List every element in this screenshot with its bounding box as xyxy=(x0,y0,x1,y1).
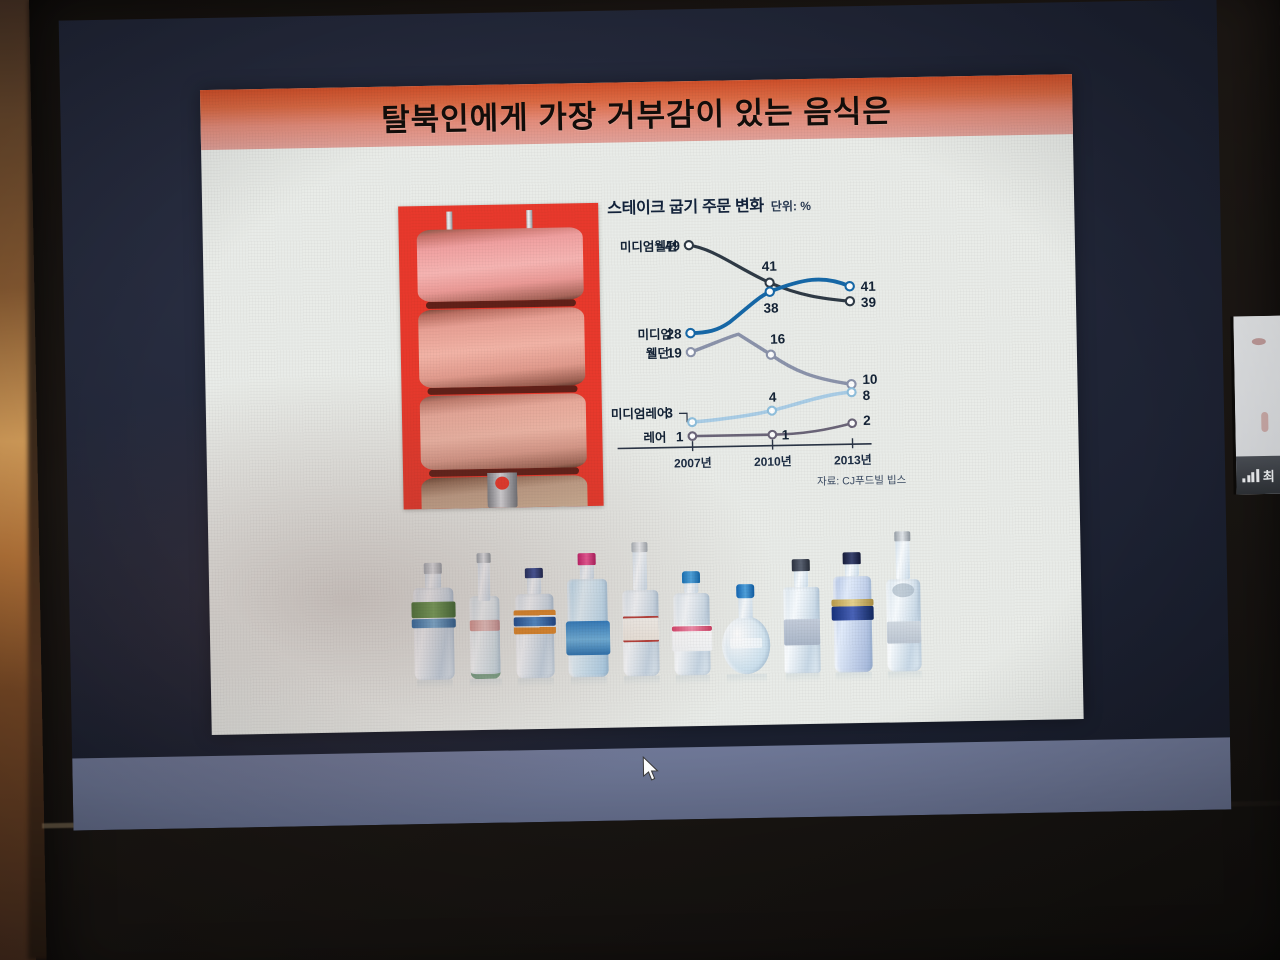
steak-slice-medium-rare xyxy=(418,307,585,388)
bottle-10 xyxy=(882,529,925,672)
auxiliary-blob-top xyxy=(1252,338,1266,345)
series-start-value-mediumrare: 3 xyxy=(665,405,673,420)
value-label-mediumrare-2010: 4 xyxy=(769,390,777,405)
auxiliary-status-bar: 최 xyxy=(1236,455,1280,494)
series-start-value-welldone: 19 xyxy=(667,345,682,360)
bottle-9 xyxy=(830,546,874,673)
value-label-rare-2010: 1 xyxy=(781,427,789,442)
series-start-value-medium: 28 xyxy=(666,326,682,341)
series-start-value-mediumwelldone: 49 xyxy=(665,238,680,253)
auxiliary-status-text: 최 xyxy=(1263,465,1275,484)
value-label-medium-2010: 38 xyxy=(763,301,779,316)
steak-slice-medium xyxy=(420,393,587,470)
bottle-5-panna xyxy=(618,540,662,677)
bottle-2 xyxy=(464,547,504,680)
x-tick-label-2007: 2007년 xyxy=(674,456,712,471)
series-label-mediumrare: 미디엄레어 xyxy=(611,406,669,422)
bottle-7-ogo xyxy=(721,572,771,675)
steak-doneness-line-chart: 스테이크 굽기 주문 변화 단위: % 2007년 2010년 2013년 xyxy=(607,189,913,506)
bottle-3 xyxy=(513,564,557,679)
photo-scene: 탈북인에게 가장 거부감이 있는 음식은 스테이크 굽기 주문 변화 xyxy=(0,0,1280,960)
value-label-mediumwelldone-2010: 41 xyxy=(762,259,778,274)
auxiliary-blob-bottom xyxy=(1261,412,1268,432)
chart-unit-label: 단위: % xyxy=(771,197,811,215)
chart-source: 자료: CJ푸드빌 빕스 xyxy=(817,472,906,489)
x-tick-label-2010: 2010년 xyxy=(754,454,792,469)
series-start-value-rare: 1 xyxy=(676,429,684,444)
chart-plot: 2007년 2010년 2013년 xyxy=(605,211,910,481)
bottle-1 xyxy=(411,562,457,681)
steak-doneness-photo xyxy=(398,203,604,510)
x-tick-label-2013: 2013년 xyxy=(834,453,872,468)
series-label-rare: 레어 xyxy=(643,430,666,445)
bottle-6-evian xyxy=(671,567,713,676)
value-label-rare-2013: 2 xyxy=(863,413,871,428)
value-label-mediumwelldone-2013: 39 xyxy=(861,295,876,310)
monitor-screen: 탈북인에게 가장 거부감이 있는 음식은 스테이크 굽기 주문 변화 xyxy=(59,0,1232,831)
auxiliary-display[interactable]: 최 xyxy=(1230,315,1280,494)
slide-title: 탈북인에게 가장 거부감이 있는 음식은 xyxy=(381,85,893,139)
bottle-8 xyxy=(781,555,823,674)
bottled-water-lineup xyxy=(404,525,907,686)
auxiliary-display-content xyxy=(1233,315,1280,456)
value-label-welldone-2010: 16 xyxy=(770,331,786,346)
leader-line-mediumrare xyxy=(679,413,687,422)
mouse-cursor xyxy=(642,756,660,782)
bottle-4 xyxy=(564,549,610,678)
steak-slice-rare xyxy=(417,227,584,302)
value-label-welldone-2013: 10 xyxy=(862,372,877,387)
value-label-mediumrare-2013: 8 xyxy=(863,388,871,403)
presentation-slide[interactable]: 탈북인에게 가장 거부감이 있는 음식은 스테이크 굽기 주문 변화 xyxy=(200,74,1084,735)
value-label-medium-2013: 41 xyxy=(861,279,877,294)
signal-bars-icon xyxy=(1242,469,1259,482)
slide-title-banner: 탈북인에게 가장 거부감이 있는 음식은 xyxy=(200,74,1073,150)
series-label-welldone: 웰던 xyxy=(646,346,669,361)
